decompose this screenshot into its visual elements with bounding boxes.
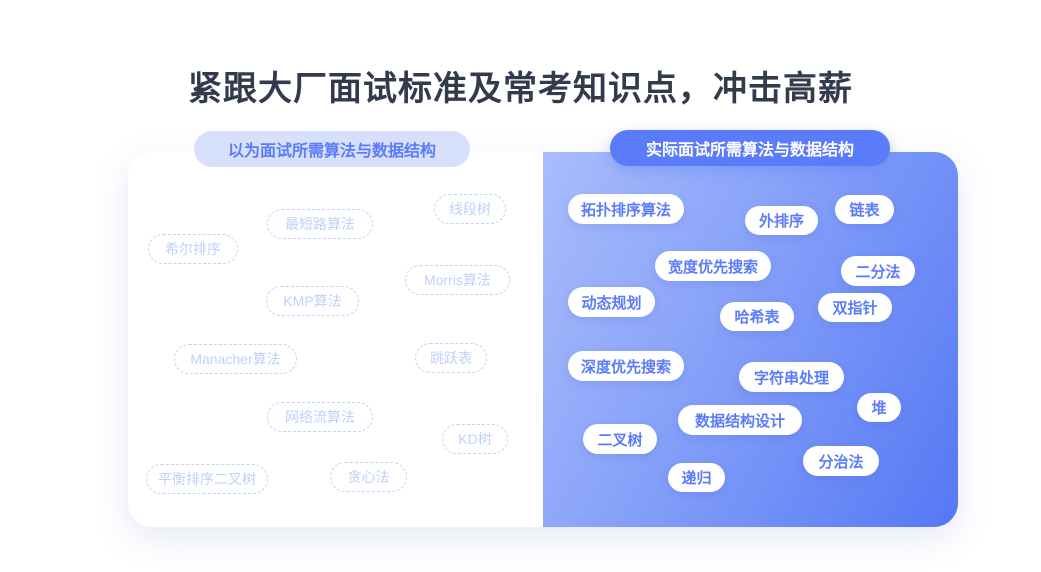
- right-panel-tag: 递归: [668, 463, 725, 492]
- right-panel-tag: 分治法: [803, 446, 879, 476]
- left-panel-tag: 贪心法: [330, 462, 407, 492]
- right-panel-tag: 字符串处理: [739, 362, 844, 392]
- left-panel-tag: 线段树: [434, 194, 506, 224]
- left-panel-tag: Manacher算法: [174, 344, 297, 374]
- left-panel-tag: 希尔排序: [148, 234, 238, 264]
- left-panel-heading-pill: 以为面试所需算法与数据结构: [194, 131, 470, 167]
- right-panel-tag: 深度优先搜索: [568, 351, 684, 381]
- right-panel-tag: 二叉树: [583, 424, 657, 454]
- right-panel-tag: 双指针: [818, 293, 892, 322]
- right-panel-tag: 动态规划: [568, 287, 655, 317]
- left-panel-tag: KMP算法: [266, 286, 359, 316]
- left-panel-tag: Morris算法: [405, 265, 510, 295]
- right-panel-tag: 拓扑排序算法: [568, 194, 684, 224]
- left-panel-tag: 最短路算法: [267, 209, 373, 239]
- right-panel-tag: 哈希表: [720, 302, 794, 331]
- right-panel-heading-pill: 实际面试所需算法与数据结构: [610, 130, 890, 166]
- right-panel-tag: 数据结构设计: [678, 405, 802, 435]
- right-panel-tag: 外排序: [745, 206, 818, 235]
- left-panel-tag: 跳跃表: [415, 343, 487, 373]
- right-panel-tag: 宽度优先搜索: [655, 251, 771, 281]
- page-title: 紧跟大厂面试标准及常考知识点，冲击高薪: [0, 61, 1041, 110]
- left-panel-tag: 平衡排序二叉树: [146, 464, 268, 494]
- left-panel-tag: 网络流算法: [267, 402, 373, 432]
- right-panel-tag: 堆: [857, 393, 901, 422]
- left-panel-tag: KD树: [442, 424, 508, 454]
- right-panel-tag: 二分法: [841, 256, 915, 286]
- right-panel-tag: 链表: [835, 195, 894, 224]
